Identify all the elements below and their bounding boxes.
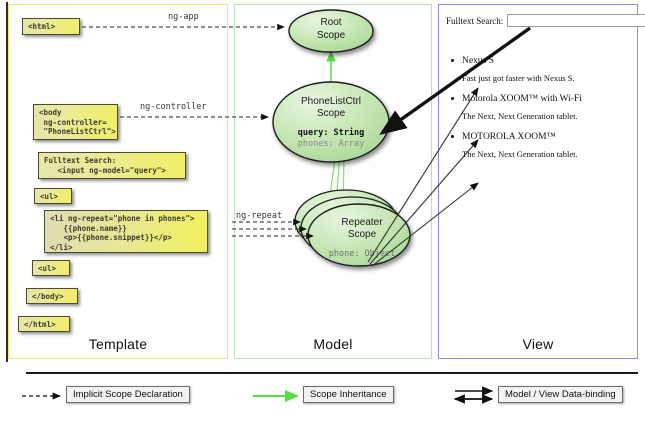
view-search-row: Fulltext Search:: [446, 14, 632, 27]
template-box-body-close: </body>: [26, 288, 78, 304]
template-box-html-open: <html>: [22, 18, 80, 35]
list-item: MOTOROLA XOOM™ The Next, Next Generation…: [446, 131, 632, 161]
template-box-ul-close: <ul>: [32, 260, 70, 276]
list-item-title: Motorola XOOM™ with Wi-Fi: [462, 93, 632, 106]
angularjs-architecture-diagram: Template <html> <body ng-controller= "Ph…: [0, 0, 645, 425]
template-box-li-ng-repeat: <li ng-repeat="phone in phones"> {{phone…: [44, 210, 208, 253]
legend-divider: [26, 372, 638, 374]
list-item: Motorola XOOM™ with Wi-Fi The Next, Next…: [446, 93, 632, 123]
column-title-template: Template: [9, 336, 227, 352]
template-box-fulltext-search: Fulltext Search: <input ng-model="query"…: [38, 152, 186, 179]
list-item-title: MOTOROLA XOOM™: [462, 131, 632, 144]
list-item-snippet: The Next, Next Generation tablet.: [462, 148, 632, 161]
label-ng-app: ng-app: [168, 12, 199, 22]
list-item-snippet: Fast just got faster with Nexus S.: [462, 72, 632, 85]
column-model: Model: [234, 4, 432, 359]
view-content: Fulltext Search: Nexus S Fast just got f…: [446, 14, 632, 169]
bullet-icon: [451, 97, 454, 100]
template-box-html-close: </html>: [18, 316, 70, 332]
column-title-model: Model: [235, 336, 431, 352]
label-ng-repeat: ng-repeat: [236, 211, 282, 221]
column-template: Template: [8, 4, 228, 359]
legend-data-binding-label: Model / View Data-binding: [498, 386, 623, 403]
view-search-input[interactable]: [507, 14, 645, 27]
list-item-title: Nexus S: [462, 55, 632, 68]
bullet-icon: [451, 59, 454, 62]
list-item-snippet: The Next, Next Generation tablet.: [462, 110, 632, 123]
column-title-view: View: [439, 336, 637, 352]
legend-scope-inheritance-label: Scope Inheritance: [303, 386, 394, 403]
label-ng-controller: ng-controller: [140, 102, 207, 112]
view-phone-list: Nexus S Fast just got faster with Nexus …: [446, 55, 632, 161]
list-item: Nexus S Fast just got faster with Nexus …: [446, 55, 632, 85]
template-box-ul-open: <ul>: [34, 188, 72, 204]
legend: Implicit Scope Declaration Scope Inherit…: [6, 372, 638, 418]
template-box-body-tag: <body ng-controller= "PhoneListCtrl">: [33, 104, 118, 140]
view-search-label: Fulltext Search:: [446, 16, 503, 26]
legend-implicit-scope-label: Implicit Scope Declaration: [66, 386, 190, 403]
bullet-icon: [451, 135, 454, 138]
